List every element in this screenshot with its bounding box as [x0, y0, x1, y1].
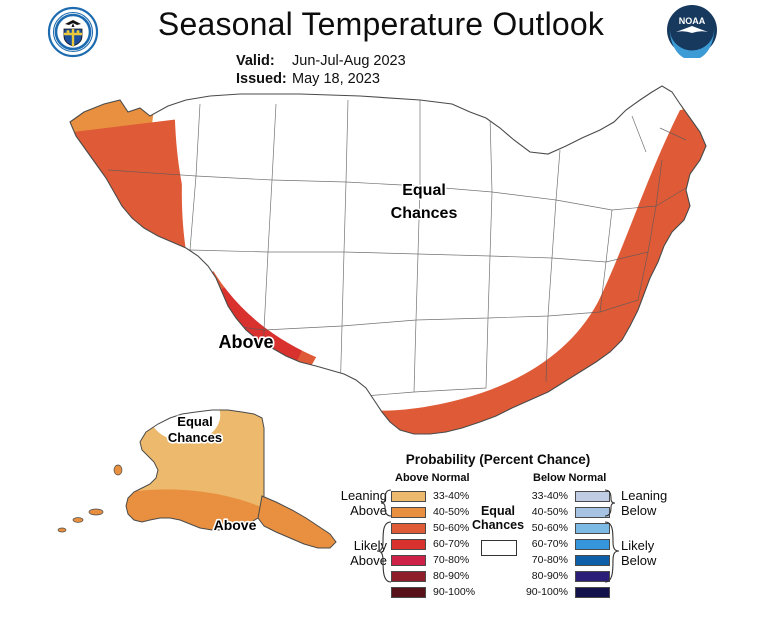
conus-contour-fills: [40, 70, 760, 470]
legend-swatch-below-0: [575, 491, 610, 502]
aleutian-islands: [58, 465, 122, 532]
legend-swatch-below-4: [575, 555, 610, 566]
legend-row-below-5[interactable]: 80-90%: [513, 568, 663, 584]
legend-swatch-below-1: [575, 507, 610, 518]
leaning-below-line2: Below: [621, 503, 713, 518]
legend-pct-above-3: 60-70%: [433, 538, 469, 550]
map-label-equal-ak: Equal: [177, 414, 212, 429]
legend-below-header: Below Normal: [533, 472, 606, 484]
legend-leaning-above-label: Leaning Above: [295, 488, 387, 518]
legend-swatch-above-2: [391, 523, 426, 534]
legend-pct-below-6: 90-100%: [518, 586, 568, 598]
legend-pct-below-3: 60-70%: [518, 538, 568, 550]
legend-swatch-above-5: [391, 571, 426, 582]
legend-above-header: Above Normal: [395, 472, 470, 484]
leaning-above-line1: Leaning: [295, 488, 387, 503]
likely-above-line2: Above: [295, 553, 387, 568]
map-label-chances-ak: Chances: [168, 430, 222, 445]
legend-leaning-below-label: Leaning Below: [621, 488, 713, 518]
likely-below-line1: Likely: [621, 538, 713, 553]
legend-pct-above-1: 40-50%: [433, 506, 469, 518]
legend-swatch-above-6: [391, 587, 426, 598]
ec-line1: Equal: [465, 504, 531, 518]
legend-swatch-above-4: [391, 555, 426, 566]
legend-pct-above-5: 80-90%: [433, 570, 469, 582]
leaning-above-line2: Above: [295, 503, 387, 518]
legend-row-above-5[interactable]: 80-90%: [333, 568, 483, 584]
legend-row-below-6[interactable]: 90-100%: [513, 584, 663, 600]
legend-pct-above-6: 90-100%: [433, 586, 475, 598]
legend-likely-below-label: Likely Below: [621, 538, 713, 568]
legend-swatch-below-5: [575, 571, 610, 582]
legend-likely-above-label: Likely Above: [295, 538, 387, 568]
legend-pct-below-5: 80-90%: [518, 570, 568, 582]
outlook-map-page: Seasonal Temperature Outlook Valid: Jun-…: [0, 0, 762, 637]
map-label-above-ak: Above: [214, 517, 257, 533]
legend-row-above-6[interactable]: 90-100%: [333, 584, 483, 600]
legend-pct-below-0: 33-40%: [518, 490, 568, 502]
legend-title: Probability (Percent Chance): [333, 452, 663, 467]
legend-pct-above-0: 33-40%: [433, 490, 469, 502]
legend-pct-above-2: 50-60%: [433, 522, 469, 534]
legend-row-below-2[interactable]: 50-60%: [513, 520, 663, 536]
legend-swatch-above-0: [391, 491, 426, 502]
legend-row-above-2[interactable]: 50-60%: [333, 520, 483, 536]
legend: Probability (Percent Chance) Above Norma…: [333, 452, 663, 612]
legend-swatch-above-3: [391, 539, 426, 550]
map-label-above-conus: Above: [218, 332, 273, 352]
leaning-below-line1: Leaning: [621, 488, 713, 503]
legend-swatch-equal-chances[interactable]: [481, 540, 517, 556]
ec-line2: Chances: [465, 518, 531, 532]
legend-pct-below-4: 70-80%: [518, 554, 568, 566]
legend-swatch-below-3: [575, 539, 610, 550]
legend-swatch-below-2: [575, 523, 610, 534]
legend-swatch-above-1: [391, 507, 426, 518]
map-label-chances-1: Chances: [391, 205, 458, 222]
legend-equal-chances-label: Equal Chances: [465, 504, 531, 532]
likely-below-line2: Below: [621, 553, 713, 568]
likely-above-line1: Likely: [295, 538, 387, 553]
legend-swatch-below-6: [575, 587, 610, 598]
map-label-equal-1: Equal: [402, 182, 446, 199]
legend-pct-above-4: 70-80%: [433, 554, 469, 566]
